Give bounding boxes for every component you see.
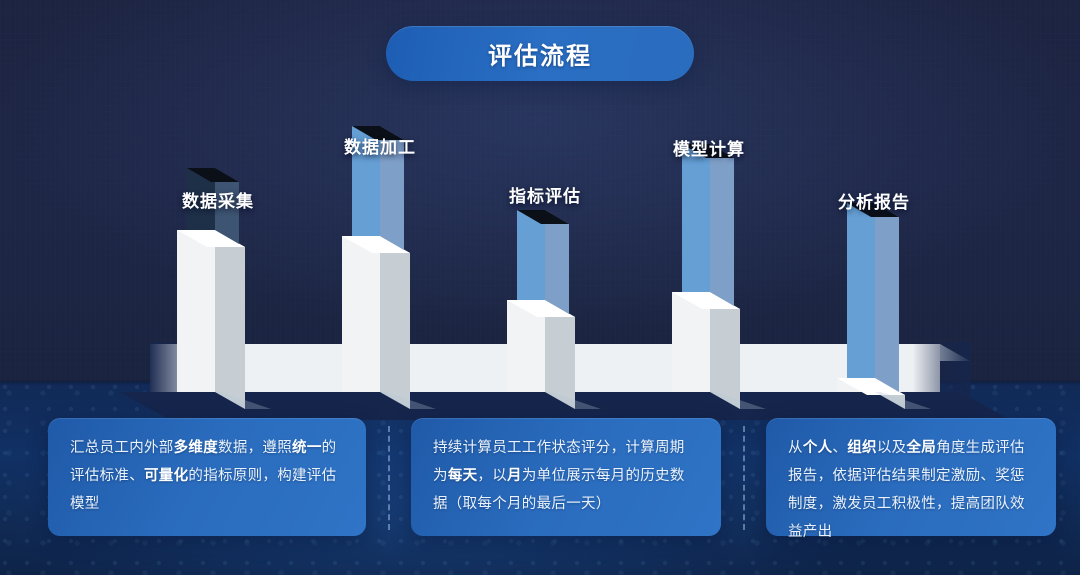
pillar-label-2: 数据加工 [344,133,416,158]
card-text-emphasis: 全局 [906,440,936,456]
card-text-emphasis: 可量化 [144,468,188,484]
background-horizon-seam [0,379,1080,385]
card-text-emphasis: 个人 [803,440,833,456]
card-text-emphasis: 每天 [448,468,478,484]
card-text-emphasis: 多维度 [174,440,218,456]
page-title-pill: 评估流程 [386,26,694,81]
card-text-segment: 汇总员工内外部 [70,440,174,456]
card-report: 从个人、组织以及全局角度生成评估报告，依据评估结果制定激励、奖惩制度，激发员工积… [766,418,1056,536]
card-collect: 汇总员工内外部多维度数据，遵照统一的评估标准、可量化的指标原则，构建评估模型 [48,418,366,536]
infographic-canvas: 评估流程 数据采集数据加工指标评估模型计算分析报告 汇总员工内外部多维度数据，遵… [0,0,1080,575]
card-text-segment: 从 [788,440,803,456]
page-title: 评估流程 [488,36,592,71]
card-text-emphasis: 统一 [292,440,322,456]
pillar-label-4: 模型计算 [673,135,745,160]
card-compute: 持续计算员工工作状态评分，计算周期为每天，以月为单位展示每月的历史数据（取每个月… [411,418,721,536]
pillar-label-3: 指标评估 [509,182,581,207]
card-text-segment: 数据，遵照 [218,440,292,456]
card-text: 从个人、组织以及全局角度生成评估报告，依据评估结果制定激励、奖惩制度，激发员工积… [788,434,1034,546]
card-text-segment: 以及 [877,440,907,456]
card-text-emphasis: 组织 [847,440,877,456]
pillar-label-1: 数据采集 [182,187,254,212]
pillar-label-5: 分析报告 [838,188,910,213]
card-divider-2 [743,426,745,530]
card-divider-1 [388,426,390,530]
card-text-segment: ，以 [477,468,507,484]
card-text-segment: 、 [832,440,847,456]
card-text: 汇总员工内外部多维度数据，遵照统一的评估标准、可量化的指标原则，构建评估模型 [70,434,344,518]
card-text: 持续计算员工工作状态评分，计算周期为每天，以月为单位展示每月的历史数据（取每个月… [433,434,699,518]
description-card-group: 汇总员工内外部多维度数据，遵照统一的评估标准、可量化的指标原则，构建评估模型持续… [0,418,1080,553]
card-text-emphasis: 月 [507,468,522,484]
